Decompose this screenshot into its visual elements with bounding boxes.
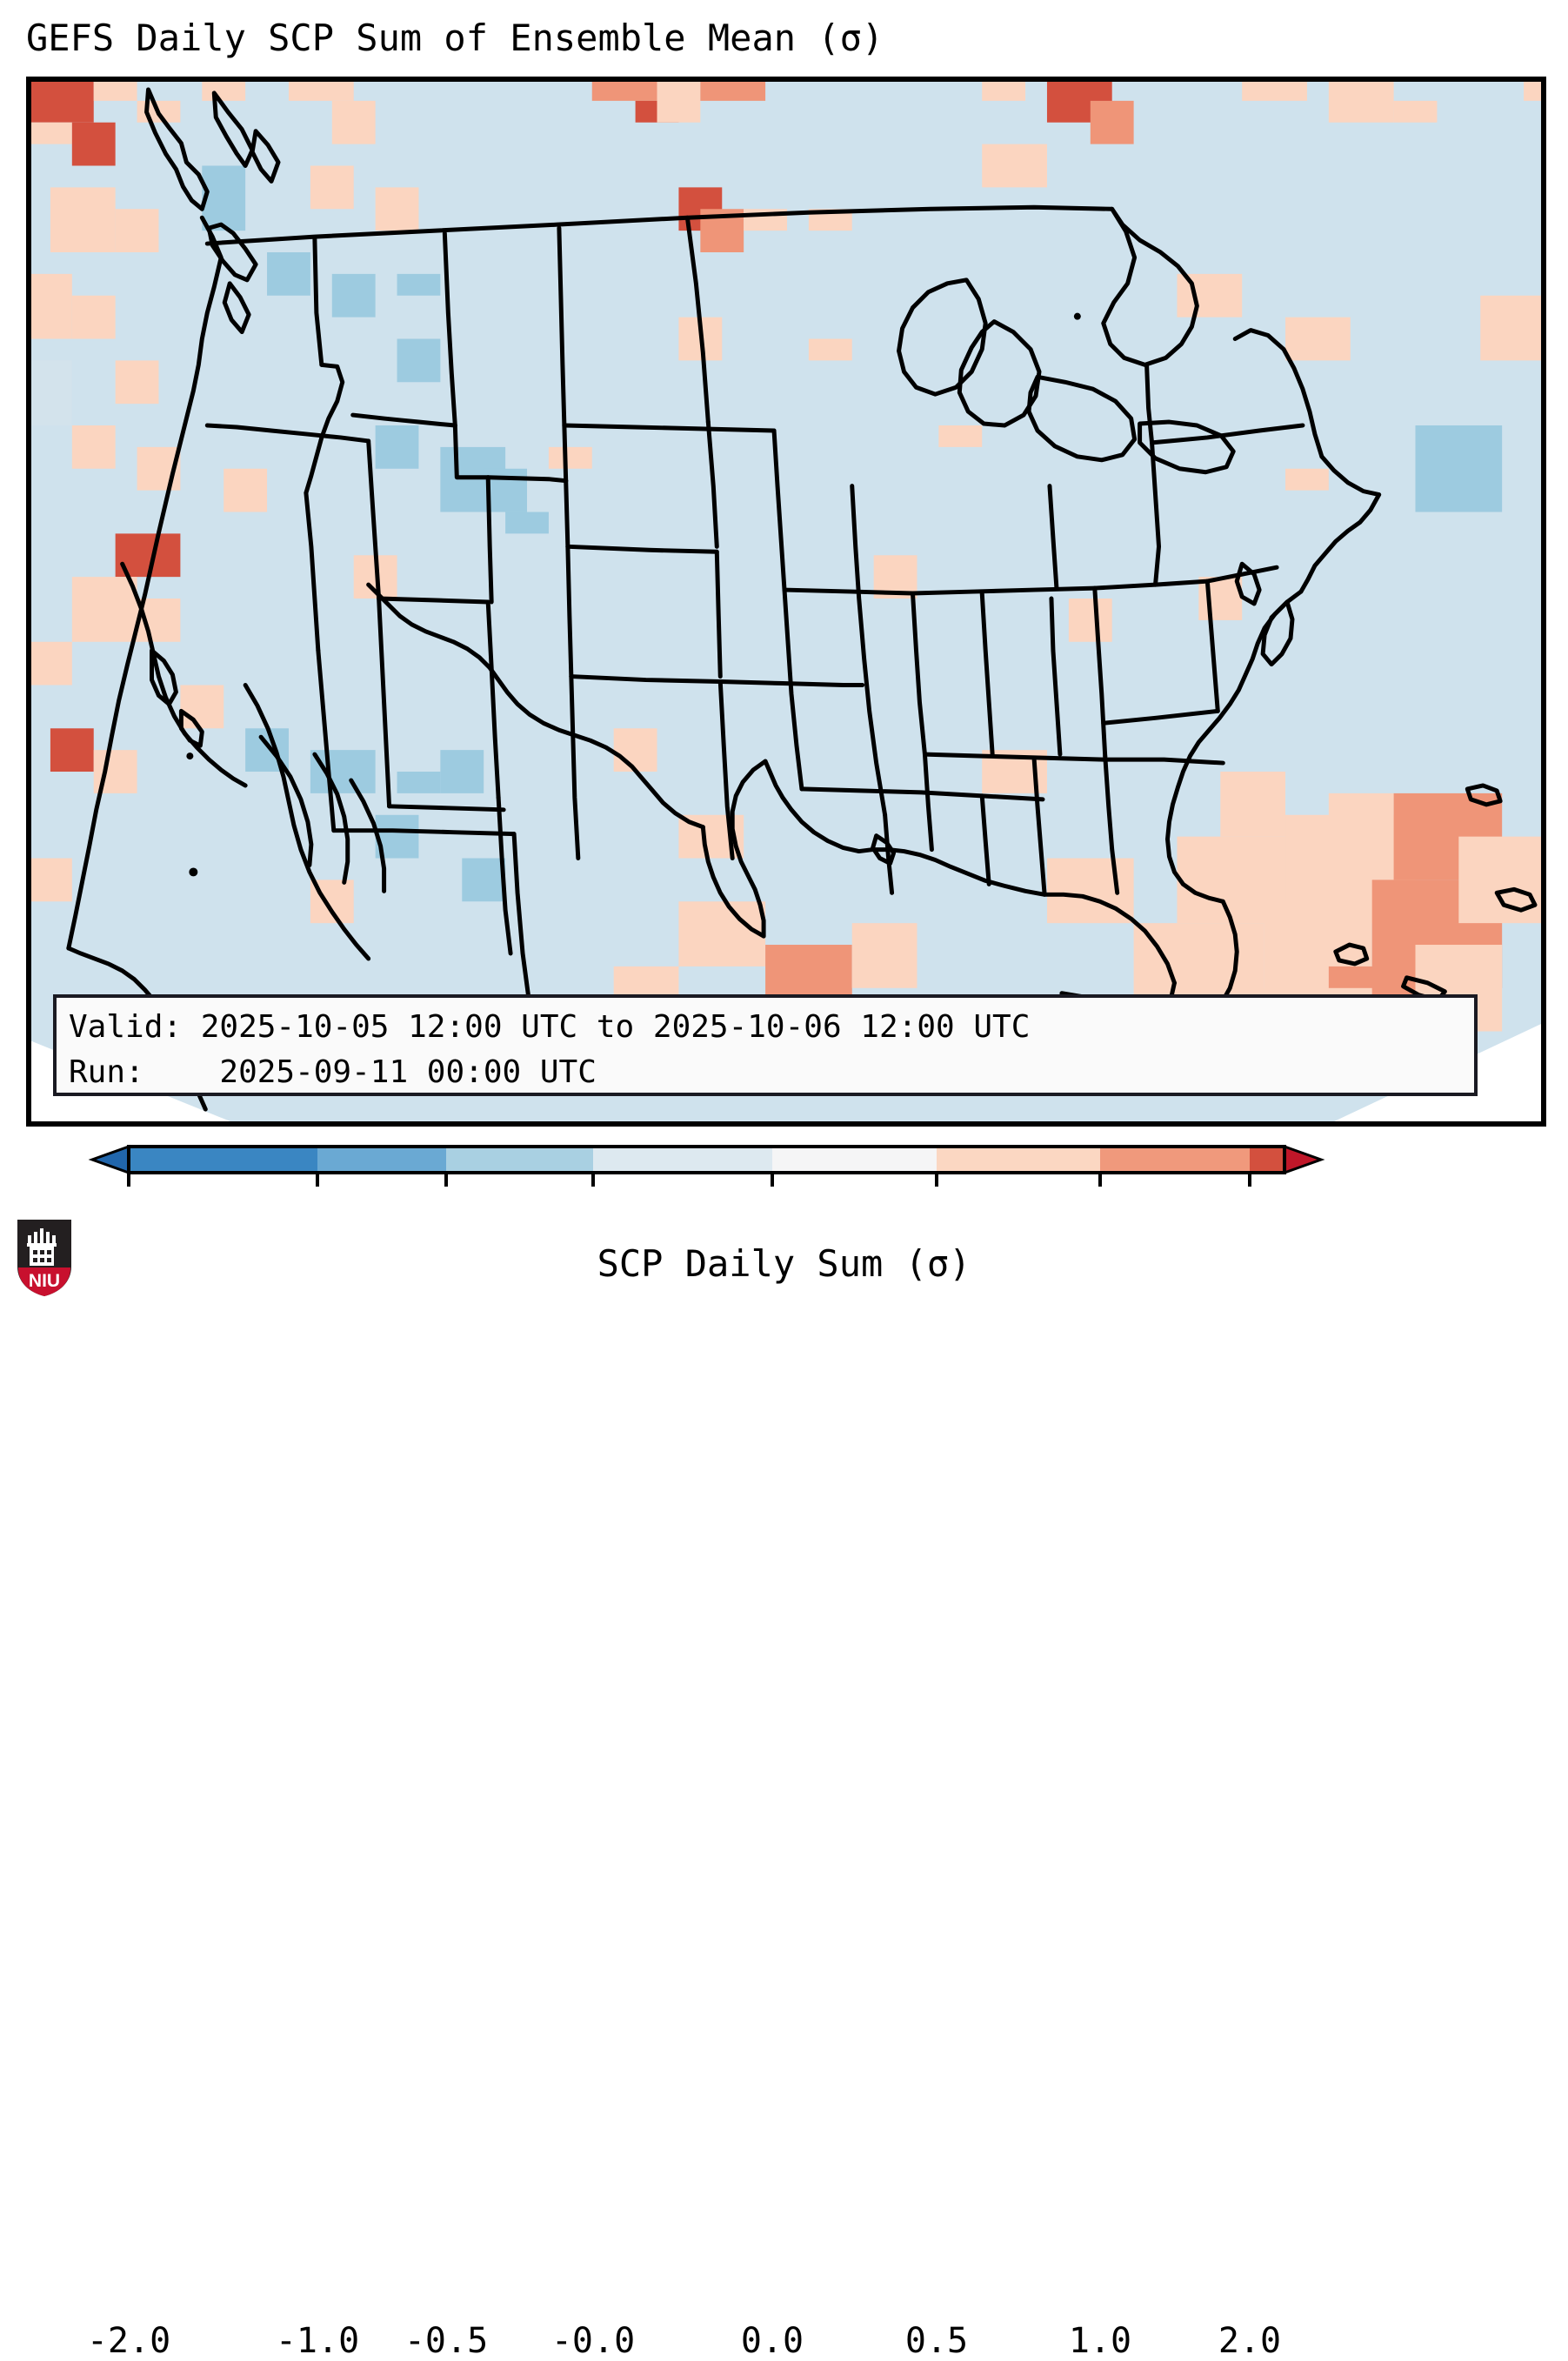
- colorbar-tick-label: -2.0: [87, 2321, 170, 2361]
- heatmap-cell: [50, 728, 94, 772]
- info-box: Valid: 2025-10-05 12:00 UTC to 2025-10-0…: [53, 994, 1478, 1096]
- heatmap-cell: [982, 144, 1047, 188]
- heatmap-cell: [202, 166, 245, 231]
- heatmap-cell: [1416, 425, 1503, 512]
- heatmap-cell: [1524, 79, 1544, 101]
- heatmap-cell: [1394, 101, 1438, 123]
- colorbar-band: [1100, 1147, 1250, 1173]
- colorbar-tick-label: 0.5: [905, 2321, 968, 2361]
- logo-text: NIU: [29, 1271, 60, 1291]
- heatmap-cell: [267, 252, 310, 296]
- heatmap-cell: [289, 79, 354, 101]
- heatmap-cell: [376, 187, 419, 231]
- page-title: GEFS Daily SCP Sum of Ensemble Mean (σ): [26, 12, 1548, 64]
- heatmap-cell: [332, 101, 376, 144]
- heatmap-cell: [72, 123, 116, 166]
- heatmap-cell: [29, 274, 72, 339]
- colorbar-extend-over: [1284, 1147, 1321, 1173]
- heatmap-cell: [700, 79, 765, 101]
- heatmap-cell: [505, 512, 549, 534]
- map-canvas: [29, 79, 1544, 1124]
- heatmap-cell: [592, 79, 657, 101]
- heatmap-cell: [397, 772, 441, 793]
- heatmap-cell: [1329, 79, 1394, 123]
- heatmap-cell: [29, 123, 72, 144]
- heatmap-cell: [376, 425, 419, 469]
- colorbar-tick-label: 0.0: [741, 2321, 804, 2361]
- heatmap-cell: [72, 425, 116, 469]
- heatmap-cell: [1069, 599, 1112, 642]
- heatmap-cell: [809, 339, 852, 361]
- heatmap-cell: [614, 728, 657, 772]
- colorbar-band: [1250, 1147, 1284, 1173]
- heatmap-cell: [29, 79, 94, 123]
- colorbar-band: [129, 1147, 317, 1173]
- heatmap-cell: [397, 339, 441, 383]
- heatmap-cell: [94, 79, 137, 101]
- heatmap-cell: [202, 79, 245, 101]
- info-run-line: Run: 2025-09-11 00:00 UTC: [69, 1050, 1474, 1095]
- colorbar-band: [772, 1147, 937, 1173]
- colorbar-tick-label: 1.0: [1069, 2321, 1131, 2361]
- heatmap-cell: [310, 166, 354, 210]
- colorbar-svg: [0, 1131, 1568, 1235]
- heatmap-cell: [1458, 837, 1544, 924]
- heatmap-cell: [224, 469, 267, 512]
- heatmap-cell: [29, 859, 72, 902]
- heatmap-cell: [462, 859, 505, 902]
- heatmap-cell: [678, 901, 765, 966]
- heatmap-cell: [310, 750, 376, 793]
- heatmap-cell: [1285, 469, 1329, 491]
- heatmap-cell: [72, 577, 137, 642]
- colorbar-band: [937, 1147, 1100, 1173]
- heatmap-cell: [852, 923, 917, 988]
- heatmap-cell: [1220, 772, 1285, 837]
- heatmap-cell: [397, 274, 441, 296]
- heatmap-cell: [116, 360, 159, 404]
- heatmap-cell: [116, 209, 159, 252]
- info-valid-line: Valid: 2025-10-05 12:00 UTC to 2025-10-0…: [69, 1005, 1474, 1050]
- heatmap-cell: [1285, 318, 1351, 361]
- colorbar-ticks: [129, 1173, 1250, 1187]
- colorbar-axis-label: SCP Daily Sum (σ): [0, 1242, 1568, 1285]
- heatmap-cell: [72, 296, 116, 339]
- heatmap-cell: [50, 187, 116, 252]
- colorbar-tick-label: 2.0: [1218, 2321, 1281, 2361]
- heatmap-cell: [29, 642, 72, 686]
- colorbar-extend-under: [92, 1147, 129, 1173]
- colorbar-band: [317, 1147, 446, 1173]
- heatmap-cell: [1091, 101, 1134, 144]
- colorbar-tick-label: -1.0: [276, 2321, 359, 2361]
- heatmap-cell: [180, 686, 224, 729]
- heatmap-cell: [938, 425, 982, 447]
- colorbar-tick-label: -0.0: [551, 2321, 635, 2361]
- colorbar-segments: [92, 1147, 1321, 1173]
- heatmap-cell: [1242, 79, 1307, 101]
- colorbar-band: [446, 1147, 593, 1173]
- heatmap-cell: [29, 360, 72, 425]
- heatmap-cell: [332, 274, 376, 318]
- heatmap-cell: [982, 79, 1025, 101]
- heatmap-cell: [549, 447, 592, 469]
- niu-logo: NIU: [16, 1218, 73, 1298]
- map-axes: Valid: 2025-10-05 12:00 UTC to 2025-10-0…: [26, 77, 1546, 1127]
- colorbar-tick-label: -0.5: [404, 2321, 488, 2361]
- heatmap-cell: [1480, 296, 1544, 361]
- heatmap-cell: [440, 750, 484, 793]
- heatmap-cell: [657, 79, 701, 123]
- colorbar-band: [593, 1147, 772, 1173]
